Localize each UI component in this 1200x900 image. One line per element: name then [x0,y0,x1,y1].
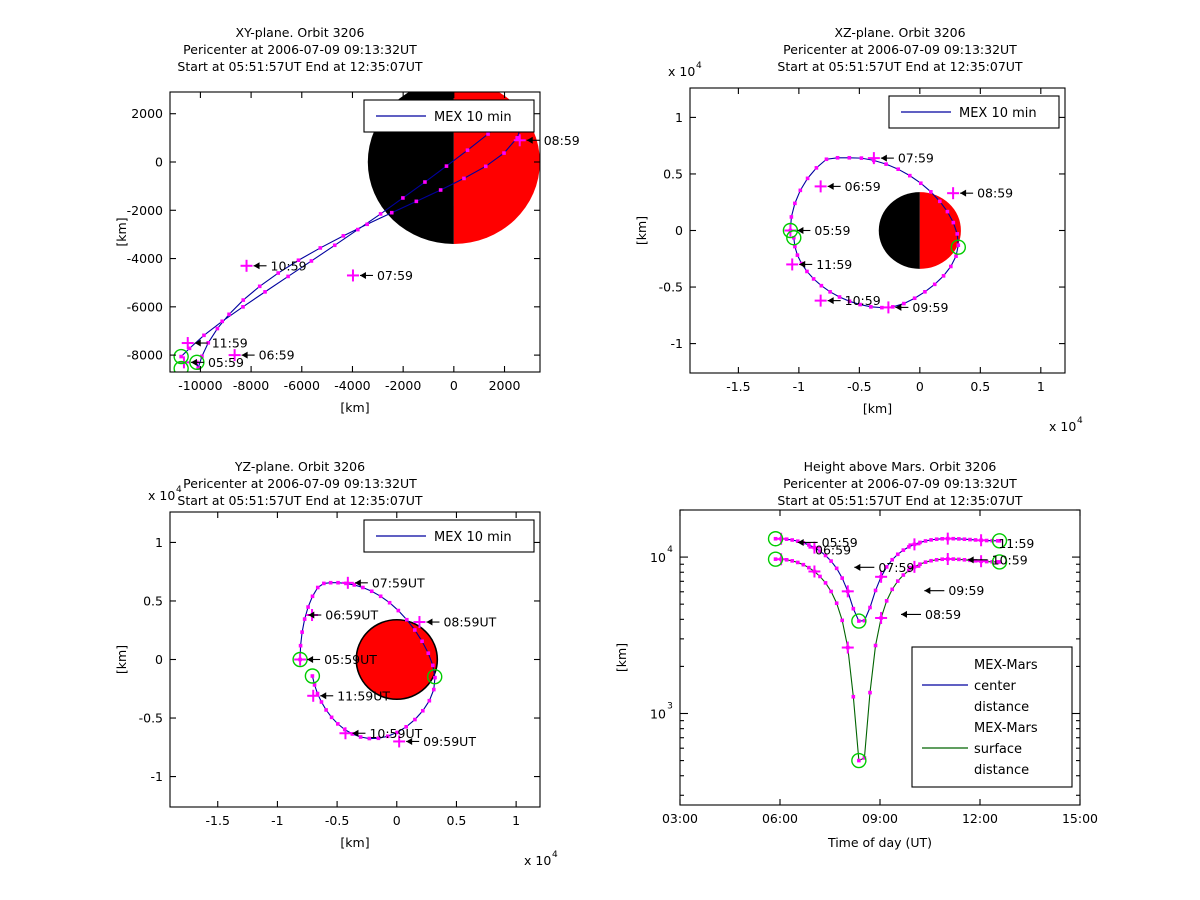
legend-label: MEX-Mars [974,658,1038,673]
y-axis-label: [km] [114,217,129,246]
annotation-arrow-head [191,359,197,366]
height-sample-marker [890,588,894,592]
mars-disk [879,192,961,269]
orbit-sample-marker [426,651,430,655]
orbit-sample-marker [420,639,424,643]
orbit-sample-marker [263,290,267,294]
height-sample-marker [935,558,939,562]
panel-title: YZ-plane. Orbit 3206 [0,458,600,475]
annotation-label: 08:59 [977,186,1013,201]
height-sample-marker [824,581,828,585]
orbit-sample-marker [179,355,183,359]
height-sample-marker [929,538,933,542]
y-tick-exponent: 3 [667,701,673,711]
x-tick-label: 0 [393,813,401,828]
orbit-sample-marker [938,200,942,204]
orbit-sample-marker [379,594,383,598]
pericenter-line: Pericenter at 2006-07-09 09:13:32UT [0,475,600,492]
annotation-label: 08:59 [925,607,961,622]
y-axis-label: [km] [634,216,649,245]
orbit-sample-marker [884,162,888,166]
orbit-sample-marker [466,148,470,152]
panel-title: XY-plane. Orbit 3206 [0,24,600,41]
orbit-sample-marker [790,215,794,219]
orbit-sample-marker [303,617,307,621]
orbit-sample-marker [445,164,449,168]
orbit-sample-marker [421,709,425,713]
x-tick-label: -0.5 [847,379,871,394]
y-tick-label: -4000 [127,251,163,266]
x-axis-label: [km] [340,835,369,850]
y-tick-label: -8000 [127,348,163,363]
annotation-label: 07:59 [878,560,914,575]
x-tick-label: 0.5 [447,813,467,828]
x-tick-label: -8000 [233,378,269,393]
annotation-arrow-head [828,297,834,304]
legend-label: center [974,679,1016,694]
orbit-sample-marker [955,232,959,236]
orbit-sample-marker [300,630,304,634]
height-sample-marker [790,559,794,563]
orbit-sample-marker [227,313,231,317]
annotation-arrow-head [320,692,326,699]
orbit-sample-marker [365,222,369,226]
height-sample-marker [840,576,844,580]
annotation-group: 05:5906:5907:5908:5909:5910:5911:59 [798,535,1035,622]
annotation-arrow-head [960,190,966,197]
annotation-label: 06:59 [815,542,851,557]
height-sample-marker [896,552,900,556]
height-sample-marker [790,538,794,542]
height-sample-marker [874,589,878,593]
orbit-sample-marker [310,259,314,263]
x-tick-label: 0 [916,379,924,394]
x-tick-label: -1 [271,813,283,828]
legend[interactable]: MEX-MarscenterdistanceMEX-Marssurfacedis… [912,647,1072,787]
orbit-sample-marker [957,243,961,247]
x-tick-label: 1 [512,813,520,828]
height-sample-marker [852,695,856,699]
x-tick-label: -1.5 [206,813,230,828]
orbit-sample-marker [216,327,220,331]
y-tick-label: 1 [155,535,163,550]
x-tick-label: 0 [450,378,458,393]
annotation-arrow-head [254,262,260,269]
pericenter-line: Pericenter at 2006-07-09 09:13:32UT [600,41,1200,58]
annotation-label: 07:59 [377,268,413,283]
orbit-sample-marker [356,228,360,232]
height-curve-center [776,539,1000,621]
annotation-arrow-head [881,155,887,162]
orbit-sample-marker [388,601,392,605]
height-sample-marker [829,590,833,594]
x-axis-label: [km] [863,401,892,416]
orbit-sample-marker [320,700,324,704]
orbit-sample-marker [413,628,417,632]
panel-title: XZ-plane. Orbit 3206 [600,24,1200,41]
orbit-sample-marker [397,609,401,613]
panel-title-block: XY-plane. Orbit 3206 Pericenter at 2006-… [0,24,600,75]
height-sample-marker [807,566,811,570]
x-tick-label: -0.5 [325,813,349,828]
x-tick-label: 2000 [489,378,521,393]
orbit-sample-marker [828,290,832,294]
x-axis-multiplier-exponent: 4 [1077,416,1083,426]
orbit-sample-marker [806,177,810,181]
legend[interactable]: MEX 10 min [364,100,534,132]
legend-label-mex: MEX 10 min [434,530,512,545]
orbit-sample-marker [799,189,803,193]
orbit-sample-marker [405,618,409,622]
orbit-sample-marker [949,265,953,269]
orbit-sample-marker [342,234,346,238]
annotation-arrow-head [426,619,432,626]
orbit-sample-marker [431,664,435,668]
orbit-sample-marker [929,190,933,194]
y-tick-label: 0.5 [663,166,683,181]
start-end-line: Start at 05:51:57UT End at 12:35:07UT [600,492,1200,509]
annotation-label: 10:59 [845,293,881,308]
height-sample-marker [896,579,900,583]
orbit-sample-marker [329,581,333,585]
x-tick-label: 15:00 [1062,811,1098,826]
x-axis-multiplier-exponent: 4 [552,850,558,860]
legend-label: distance [974,700,1029,715]
height-sample-marker [885,599,889,603]
orbit-sample-marker [439,188,443,192]
axes-frame [690,88,1065,373]
orbit-sample-marker [515,136,519,140]
height-sample-marker [963,558,967,562]
annotation-arrow-head [924,587,930,594]
orbit-sample-marker [415,200,419,204]
annotation-label: 08:59 [544,133,580,148]
x-tick-label: 06:00 [762,811,798,826]
orbit-sample-marker [836,156,840,160]
annotation-label: 08:59UT [443,615,496,630]
panel-title-block: YZ-plane. Orbit 3206 Pericenter at 2006-… [0,458,600,509]
y-tick-label: 2000 [131,106,163,121]
y-tick-label: -2000 [127,203,163,218]
orbit-sample-marker [299,644,303,648]
x-tick-label: 12:00 [962,811,998,826]
height-sample-marker [835,601,839,605]
legend[interactable]: MEX 10 min [364,520,534,552]
x-tick-label: 1 [1037,379,1045,394]
orbit-sample-marker [336,581,340,585]
height-sample-marker [924,560,928,564]
y-tick-exponent: 4 [667,545,673,555]
panel-xz-plane: XZ-plane. Orbit 3206 Pericenter at 2006-… [600,0,1200,450]
orbit-sample-marker [324,708,328,712]
axis-ticks: -1.5-1-0.500.5110.50-0.5-1 [659,88,1065,394]
panel-title-block: Height above Mars. Orbit 3206 Pericenter… [600,458,1200,509]
annotation-arrow-head [360,272,366,279]
orbit-sample-marker [428,699,432,703]
height-sample-marker [963,537,967,541]
annotation-label: 07:59 [898,151,934,166]
x-tick-label: -4000 [334,378,370,393]
height-sample-marker [929,559,933,563]
orbit-sample-marker [330,716,334,720]
start-end-line: Start at 05:51:57UT End at 12:35:07UT [0,58,600,75]
height-above-mars-chart: 05:5906:5907:5908:5909:5910:5911:5903:00… [600,450,1200,900]
x-tick-label: -2000 [385,378,421,393]
height-sample-marker [802,563,806,567]
orbit-sample-marker [220,320,224,324]
legend-label-mex: MEX 10 min [434,110,512,125]
orbit-sample-marker [486,132,490,136]
orbit-sample-marker [502,151,506,155]
y-tick-label: 1 [675,110,683,125]
annotation-label: 10:59 [271,258,307,273]
height-sample-marker [807,543,811,547]
orbit-sample-marker [359,735,363,739]
annotation-label: 11:59 [998,536,1034,551]
orbit-sample-marker [423,180,427,184]
orbit-sample-marker [484,165,488,169]
orbit-sample-marker [942,274,946,278]
height-sample-marker [857,759,861,763]
annotation-arrow-head [307,656,313,663]
yz-plane-chart: 07:59UT06:59UT08:59UT05:59UT11:59UT10:59… [0,450,600,900]
annotation-label: 05:59UT [324,652,377,667]
height-sample-marker [874,644,878,648]
legend-label: distance [974,763,1029,778]
orbit-sample-marker [933,283,937,287]
height-sample-marker [902,548,906,552]
orbit-sample-marker [838,295,842,299]
annotation-label: 11:59 [816,257,852,272]
panel-xy-plane: XY-plane. Orbit 3206 Pericenter at 2006-… [0,0,600,450]
height-sample-marker [957,537,961,541]
annotation-arrow-head [968,556,974,563]
y-tick-label: 0 [155,155,163,170]
x-tick-label: 0.5 [970,379,990,394]
start-end-line: Start at 05:51:57UT End at 12:35:07UT [0,492,600,509]
height-sample-marker [835,567,839,571]
height-sample-marker [857,619,861,623]
y-tick-label: -0.5 [139,711,163,726]
panel-title-block: XZ-plane. Orbit 3206 Pericenter at 2006-… [600,24,1200,75]
orbit-sample-marker [902,302,906,306]
panel-yz-plane: YZ-plane. Orbit 3206 Pericenter at 2006-… [0,450,600,900]
y-tick-label: 10 [650,550,666,565]
annotation-label: 11:59UT [337,688,390,703]
annotation-label: 07:59UT [372,575,425,590]
y-tick-label: 0.5 [143,593,163,608]
panel-title: Height above Mars. Orbit 3206 [600,458,1200,475]
height-sample-marker [818,575,822,579]
orbit-sample-marker [413,718,417,722]
height-sample-marker [968,538,972,542]
orbit-sample-marker [318,246,322,250]
height-sample-marker [868,606,872,610]
annotation-label: 05:59 [208,355,244,370]
start-end-line: Start at 05:51:57UT End at 12:35:07UT [600,58,1200,75]
orbit-sample-marker [923,290,927,294]
orbit-sample-marker [946,210,950,214]
orbit-sample-marker [952,221,956,225]
orbit-sample-marker [333,243,337,247]
y-axis-label: [km] [114,645,129,674]
x-tick-label: -1 [793,379,805,394]
x-tick-label: 09:00 [862,811,898,826]
annotation-label: 06:59 [845,179,881,194]
annotation-label: 10:59UT [369,726,422,741]
orbit-sample-marker [793,202,797,206]
x-tick-label: -1.5 [726,379,750,394]
orbit-sample-marker [311,594,315,598]
x-tick-label: 03:00 [662,811,698,826]
orbit-sample-marker [258,285,262,289]
orbit-sample-marker [433,676,437,680]
pericenter-line: Pericenter at 2006-07-09 09:13:32UT [0,41,600,58]
orbit-sample-marker [820,284,824,288]
height-sample-marker [907,545,911,549]
annotation-label: 09:59UT [423,734,476,749]
panel-height-above-mars: Height above Mars. Orbit 3206 Pericenter… [600,450,1200,900]
orbit-sample-marker [311,674,315,678]
height-sample-marker [957,558,961,562]
height-sample-marker [796,561,800,565]
annotation-arrow-head [901,611,907,618]
y-tick-label: -1 [671,336,683,351]
legend[interactable]: MEX 10 min [889,96,1059,128]
x-axis-multiplier: x 10 [524,853,551,868]
pericenter-line: Pericenter at 2006-07-09 09:13:32UT [600,475,1200,492]
axis-ticks: -1.5-1-0.500.5110.50-0.5-1 [139,512,540,828]
legend-label: MEX-Mars [974,721,1038,736]
annotation-arrow-head [854,564,860,571]
orbit-sample-marker [322,582,326,586]
height-sample-marker [868,691,872,695]
orbit-sample-marker [432,688,436,692]
y-tick-label: 0 [155,652,163,667]
orbit-sample-marker [241,305,245,309]
x-axis-multiplier: x 10 [1049,419,1076,434]
height-sample-marker [918,562,922,566]
orbit-sample-marker [241,298,245,302]
y-tick-label: 0 [675,223,683,238]
orbit-sample-marker [825,157,829,161]
figure-root: XY-plane. Orbit 3206 Pericenter at 2006-… [0,0,1200,900]
plot-area-xz-plane: 07:5906:5908:5905:5911:5910:5909:59 [783,151,1013,315]
annotation-label: 09:59 [912,300,948,315]
annotation-label: 10:59 [992,552,1028,567]
annotation-label: 11:59 [212,336,248,351]
legend-label-mex: MEX 10 min [959,106,1037,121]
orbit-sample-marker [805,270,809,274]
annotation-label: 05:59 [814,223,850,238]
orbit-sample-marker [316,586,320,590]
orbit-sample-marker [796,253,800,257]
orbit-sample-marker [848,156,852,160]
orbit-sample-marker [954,254,958,258]
orbit-sample-marker [202,334,206,338]
x-tick-label: -6000 [284,378,320,393]
orbit-sample-marker [390,211,394,215]
orbit-sample-marker [462,177,466,181]
annotation-label: 09:59 [948,583,984,598]
y-tick-label: 10 [650,706,666,721]
x-tick-label: -10000 [178,378,222,393]
mars-night-side [879,192,920,269]
orbit-sample-marker [401,196,405,200]
y-axis-label: [km] [614,643,629,672]
orbit-sample-marker [815,166,819,170]
y-tick-label: -1 [151,769,163,784]
height-sample-marker [852,607,856,611]
y-tick-label: -6000 [127,299,163,314]
height-sample-marker [924,539,928,543]
annotation-label: 06:59UT [325,608,378,623]
height-sample-marker [829,559,833,563]
legend-label: surface [974,742,1022,757]
x-axis-label: Time of day (UT) [827,835,932,850]
orbit-sample-marker [919,181,923,185]
orbit-sample-marker [379,212,383,216]
orbit-sample-marker [860,156,864,160]
annotation-arrow-head [828,183,834,190]
orbit-sample-marker [286,275,290,279]
height-sample-marker [840,619,844,623]
orbit-sample-marker [361,586,365,590]
orbit-sample-marker [306,605,310,609]
orbit-sample-marker [908,174,912,178]
height-sample-marker [935,537,939,541]
orbit-sample-marker [336,722,340,726]
x-axis-label: [km] [340,400,369,415]
plot-area-yz-plane: 07:59UT06:59UT08:59UT05:59UT11:59UT10:59… [293,575,497,749]
annotation-label: 06:59 [259,348,295,363]
orbit-sample-marker [812,277,816,281]
orbit-sample-marker [896,167,900,171]
y-tick-label: -0.5 [659,280,683,295]
